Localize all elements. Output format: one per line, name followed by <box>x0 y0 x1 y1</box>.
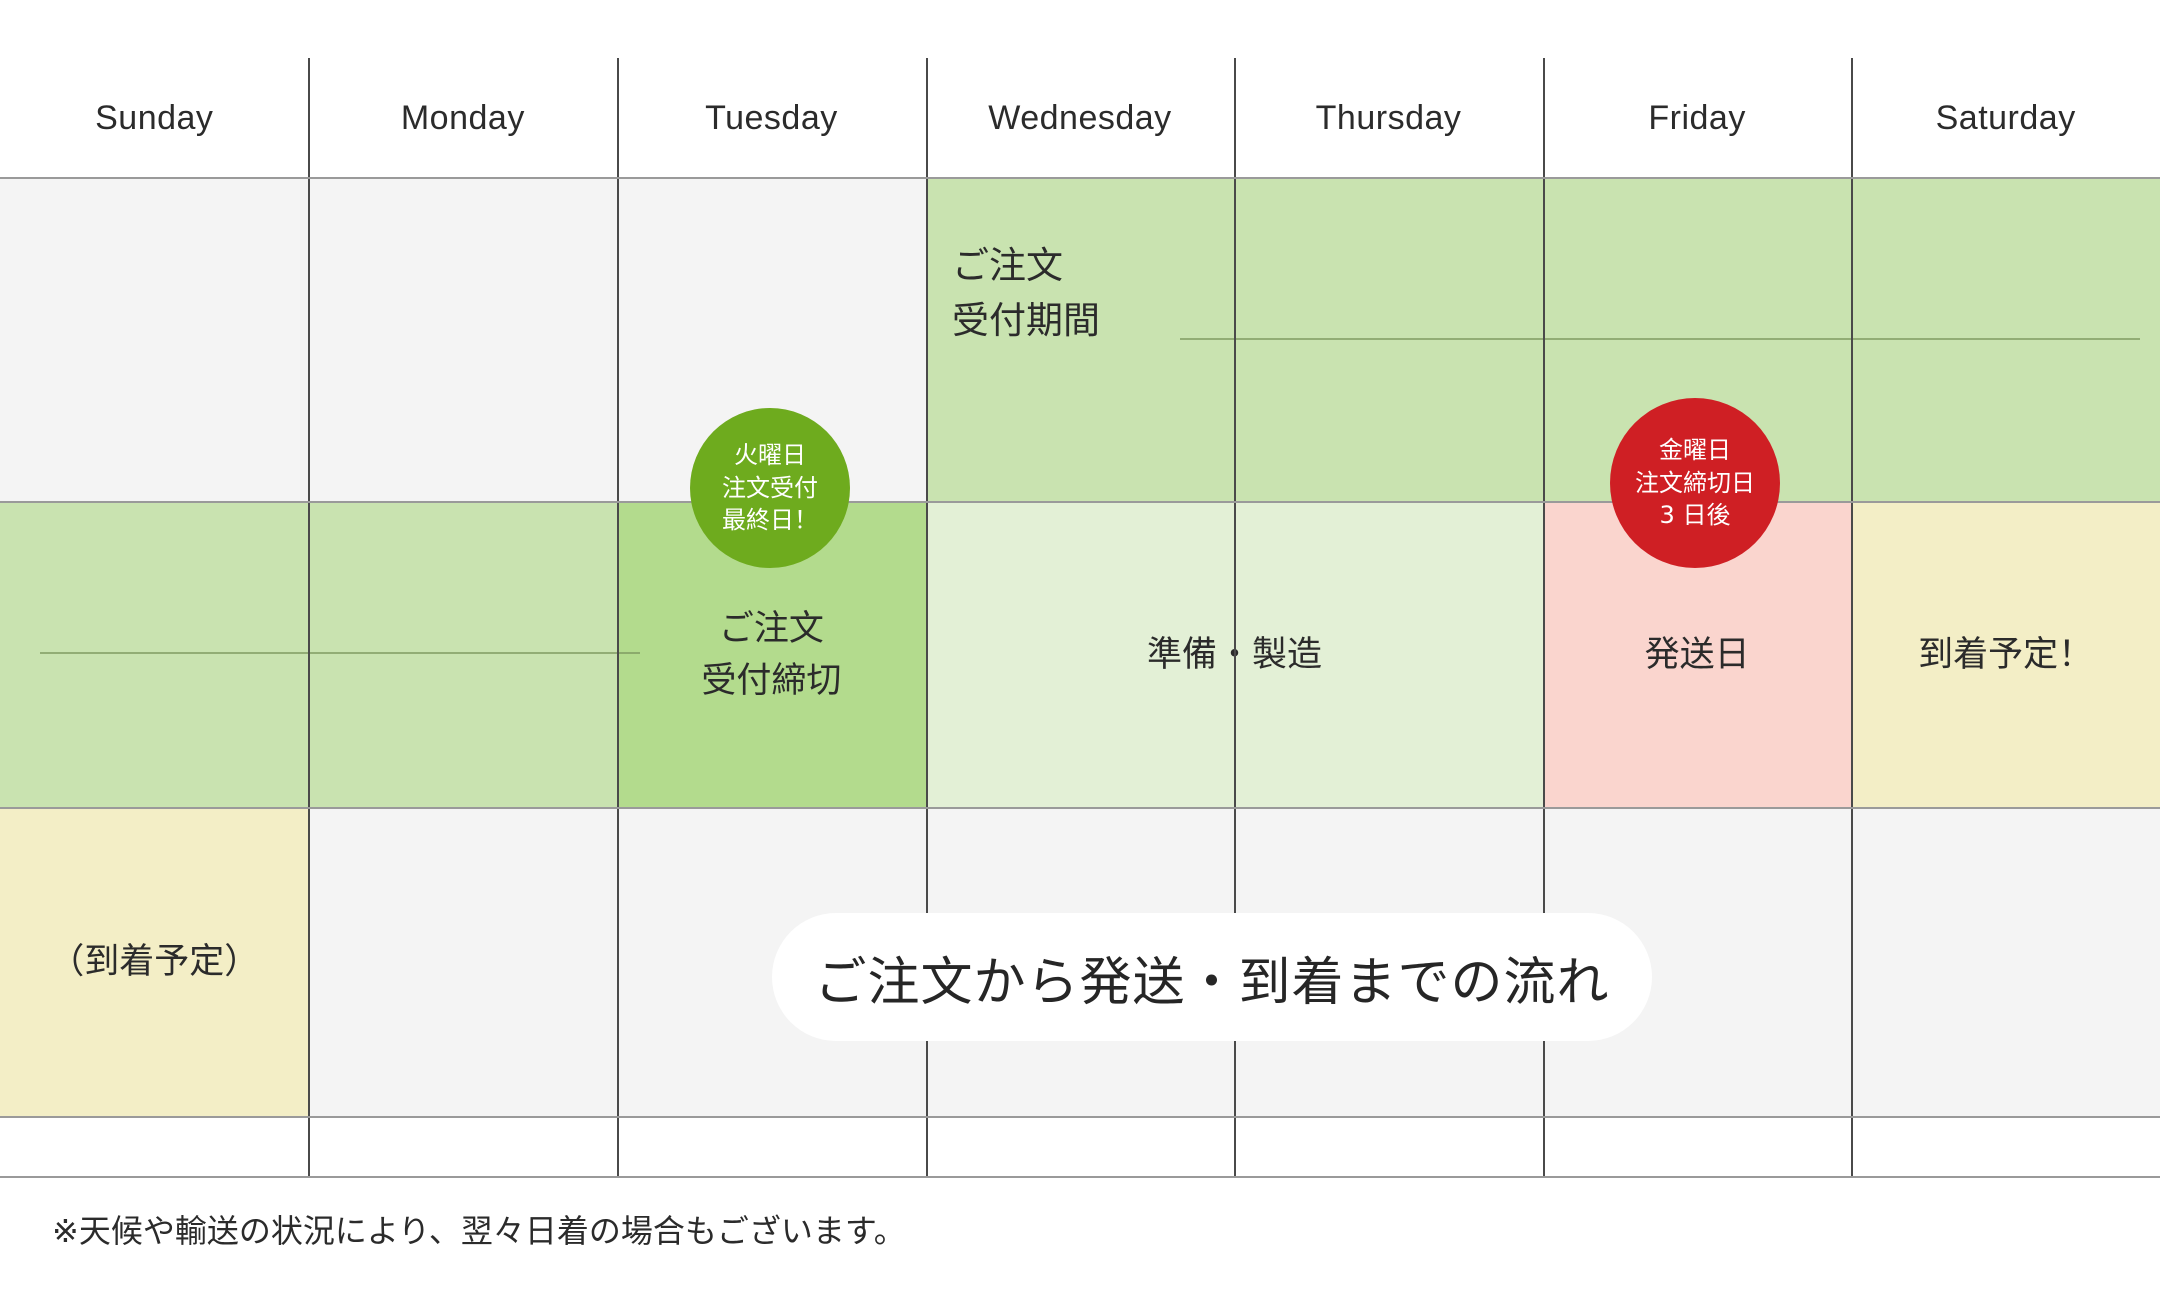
cell-r4-wednesday <box>926 1117 1235 1178</box>
schedule-row-fulfilment: ご注文 受付締切 発送日 到着予定！ <box>0 502 2160 808</box>
friday-badge-line2: 注文締切日 <box>1635 467 1755 499</box>
flow-title-banner: ご注文から発送・到着までの流れ <box>772 913 1652 1041</box>
weekday-label: Saturday <box>1936 99 2076 138</box>
weekday-label: Friday <box>1648 99 1745 138</box>
weekday-header-row: Sunday Monday Tuesday Wednesday Thursday… <box>0 58 2160 178</box>
friday-badge-line3: 3 日後 <box>1660 499 1731 531</box>
weekday-label: Thursday <box>1316 99 1462 138</box>
infographic-root: Sunday Monday Tuesday Wednesday Thursday… <box>0 0 2160 1299</box>
tuesday-badge-line2: 注文受付 <box>722 472 818 504</box>
weekday-header-monday: Monday <box>309 58 618 178</box>
cell-r2-monday <box>309 502 618 808</box>
tuesday-badge-line3: 最終日！ <box>722 504 818 536</box>
cell-r1-thursday <box>1234 178 1543 502</box>
fulfilment-rule <box>40 652 640 654</box>
weekday-label: Sunday <box>95 99 213 138</box>
cell-r4-sunday <box>0 1117 309 1178</box>
weekday-label: Tuesday <box>705 99 838 138</box>
tuesday-badge-line1: 火曜日 <box>734 439 806 471</box>
order-deadline-label: ご注文 受付締切 <box>701 603 841 708</box>
cell-r1-monday <box>309 178 618 502</box>
cell-r1-wednesday <box>926 178 1235 502</box>
cell-r1-sunday <box>0 178 309 502</box>
cell-r3-monday <box>309 808 618 1117</box>
friday-cutoff-badge[interactable]: 金曜日 注文締切日 3 日後 <box>1610 398 1780 568</box>
weekday-label: Wednesday <box>988 99 1171 138</box>
cell-r4-monday <box>309 1117 618 1178</box>
weekday-header-sunday: Sunday <box>0 58 309 178</box>
order-deadline-line1: ご注文 <box>701 603 841 656</box>
weekday-header-friday: Friday <box>1543 58 1852 178</box>
order-deadline-line2: 受付締切 <box>701 655 841 708</box>
weekday-header-saturday: Saturday <box>1851 58 2160 178</box>
cell-r2-sunday <box>0 502 309 808</box>
shipping-day-label: 発送日 <box>1645 629 1750 682</box>
weekday-header-thursday: Thursday <box>1234 58 1543 178</box>
cell-r4-saturday <box>1851 1117 2160 1178</box>
tuesday-deadline-badge[interactable]: 火曜日 注文受付 最終日！ <box>690 408 850 568</box>
schedule-row-footer-strip <box>0 1117 2160 1178</box>
weekday-header-tuesday: Tuesday <box>617 58 926 178</box>
flow-title-text: ご注文から発送・到着までの流れ <box>814 940 1609 1015</box>
weekday-header-wednesday: Wednesday <box>926 58 1235 178</box>
arrival-expected-label: 到着予定！ <box>1918 629 2093 682</box>
cell-r1-saturday <box>1851 178 2160 502</box>
cell-r4-thursday <box>1234 1117 1543 1178</box>
arrival-alt-label: （到着予定） <box>49 936 259 989</box>
cell-r2-wednesday <box>926 502 1235 808</box>
cell-r2-saturday: 到着予定！ <box>1851 502 2160 808</box>
schedule-row-order-period <box>0 178 2160 502</box>
friday-badge-line1: 金曜日 <box>1659 434 1731 466</box>
cell-r3-sunday: （到着予定） <box>0 808 309 1117</box>
delivery-footnote: ※天候や輸送の状況により、翌々日着の場合もございます。 <box>52 1206 906 1252</box>
order-period-rule <box>1180 338 2140 340</box>
delivery-schedule-calendar: Sunday Monday Tuesday Wednesday Thursday… <box>0 58 2160 1178</box>
cell-r4-tuesday <box>617 1117 926 1178</box>
cell-r3-saturday <box>1851 808 2160 1117</box>
cell-r2-thursday <box>1234 502 1543 808</box>
cell-r4-friday <box>1543 1117 1852 1178</box>
weekday-label: Monday <box>401 99 525 138</box>
